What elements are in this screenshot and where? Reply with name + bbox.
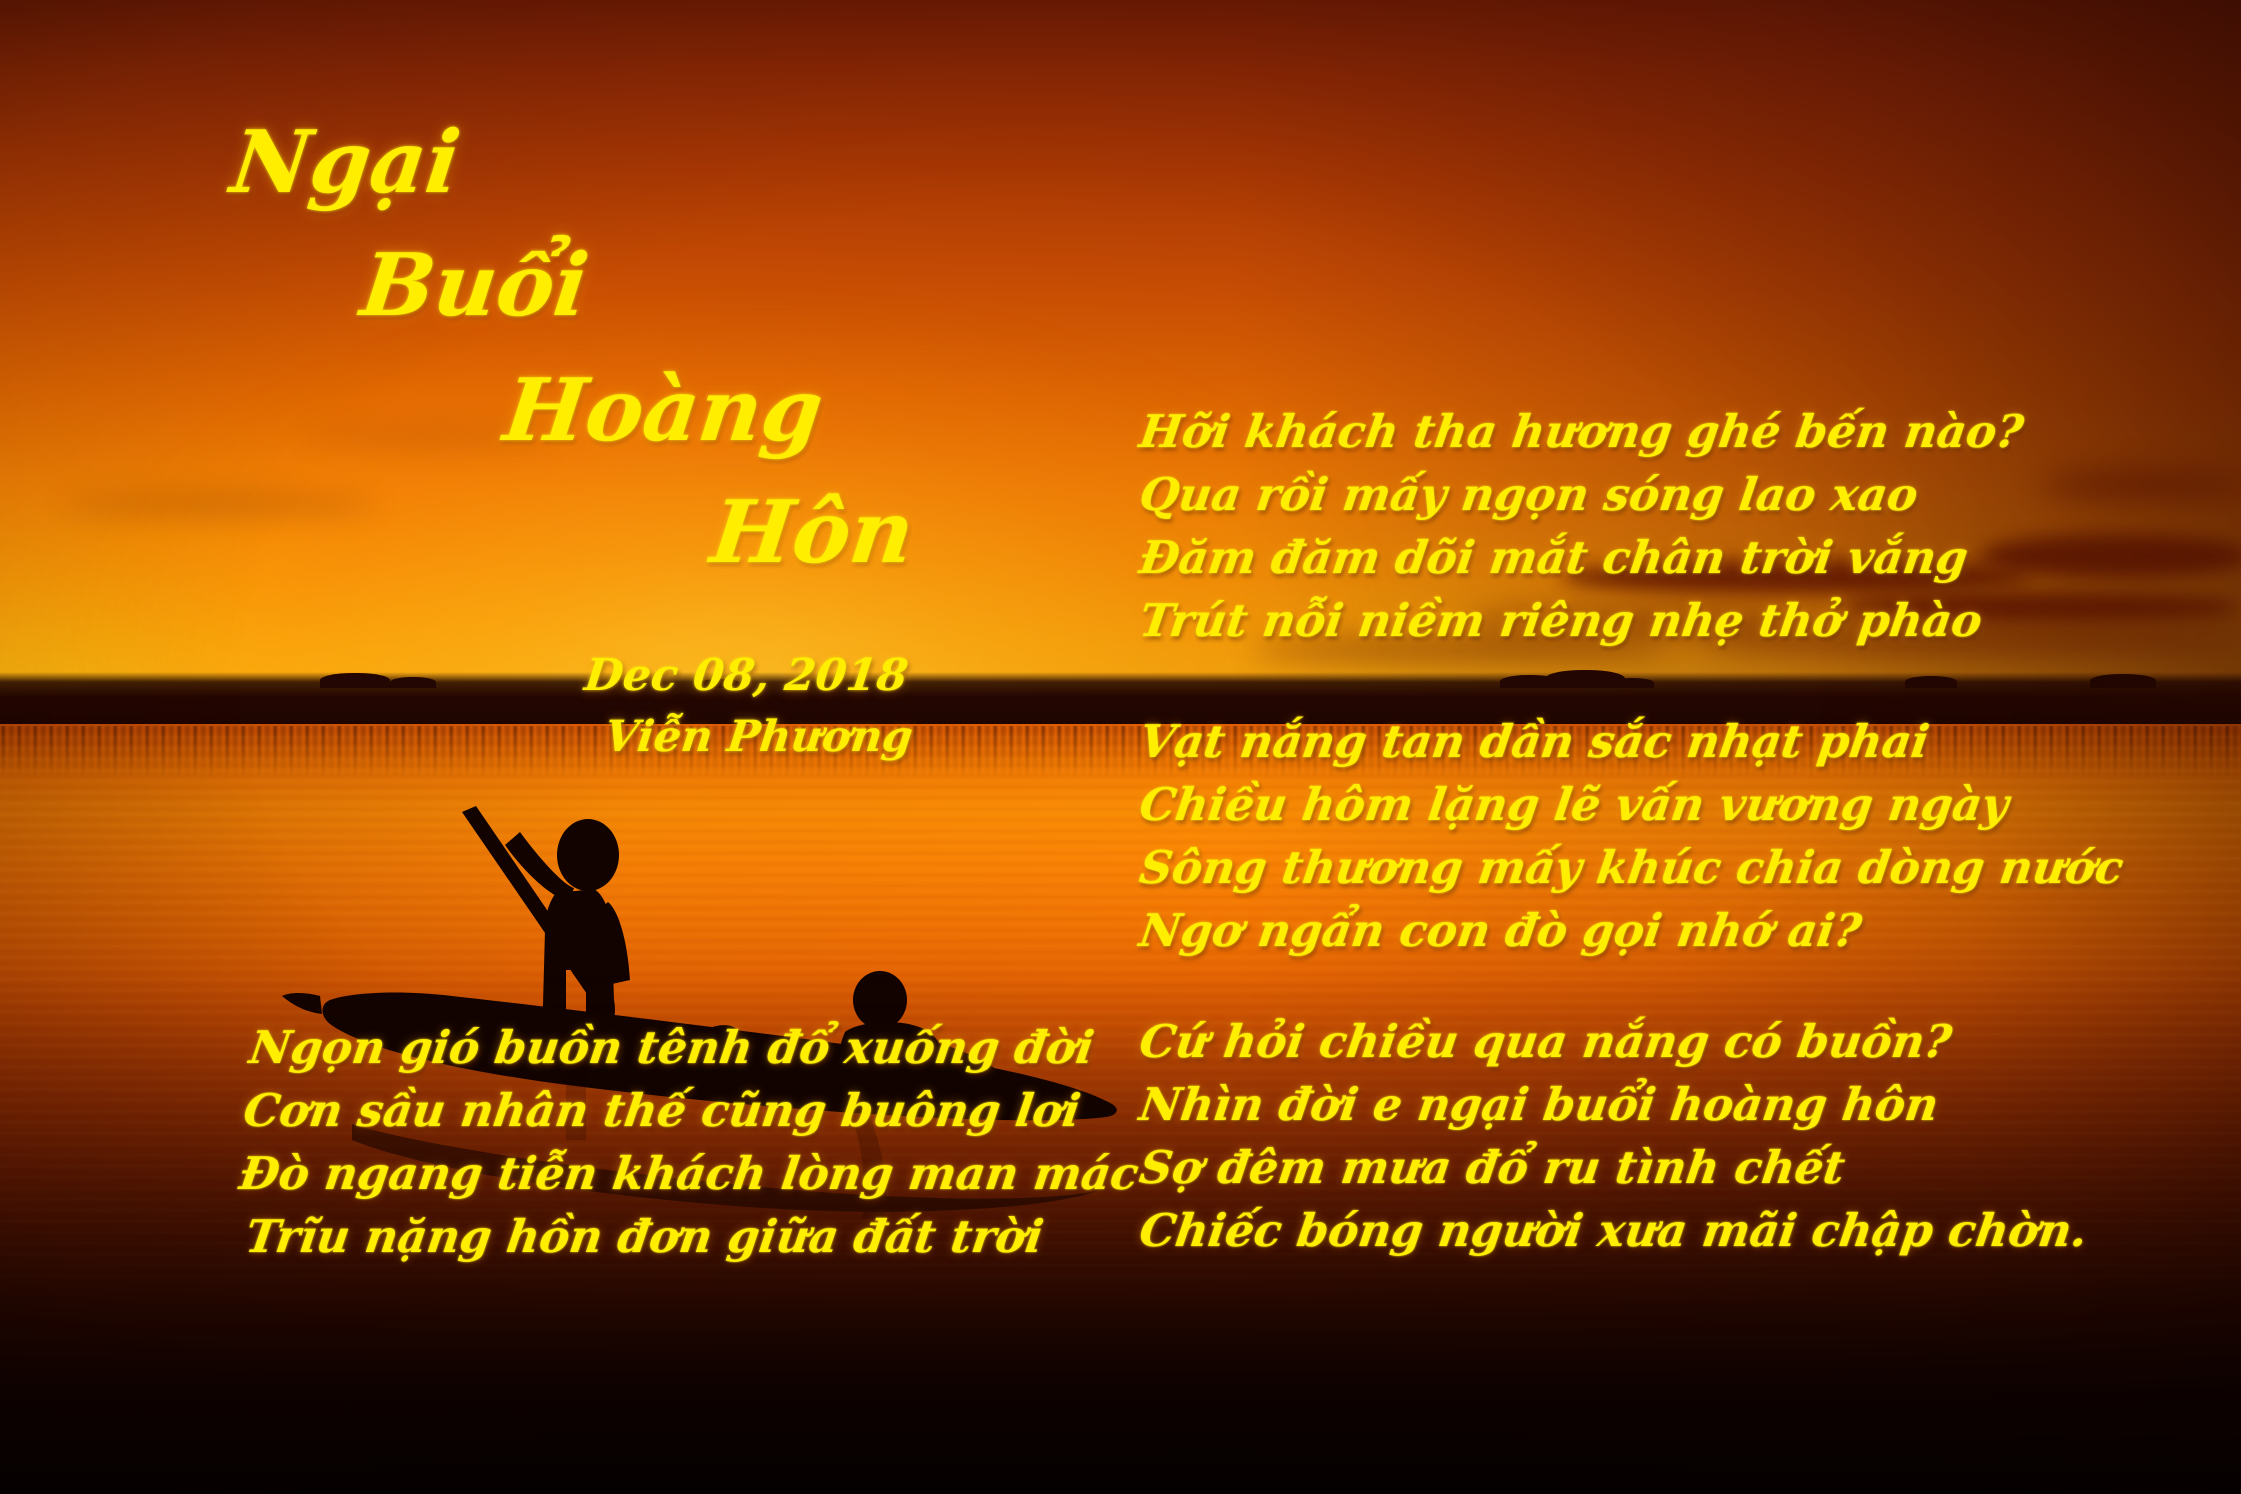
stanza-2: Vạt nắng tan dần sắc nhạt phai Chiều hôm… <box>1140 710 2123 962</box>
title-word-4: Hôn <box>707 490 919 576</box>
poem-line: Sợ đêm mưa đổ ru tình chết <box>1136 1136 2092 1199</box>
poem-line: Cơn sầu nhân thế cũng buông lơi <box>240 1079 1143 1142</box>
poem-line: Ngơ ngẩn con đò gọi nhớ ai? <box>1136 899 2128 962</box>
stanza-3: Ngọn gió buồn tênh đổ xuống đời Cơn sầu … <box>240 1016 1138 1268</box>
title-word-1: Ngại <box>227 120 465 206</box>
poem-line: Sông thương mấy khúc chia dòng nước <box>1136 836 2128 899</box>
poem-poster: Ngại Buổi Hoàng Hôn Dec 08, 2018 Viễn Ph… <box>0 0 2241 1494</box>
poem-line: Nhìn đời e ngại buổi hoàng hôn <box>1136 1073 2092 1136</box>
poem-line: Trút nỗi niềm riêng nhẹ thở phào <box>1136 589 2028 652</box>
poem-line: Trĩu nặng hồn đơn giữa đất trời <box>242 1205 1143 1268</box>
stanza-4: Cứ hỏi chiều qua nắng có buồn? Nhìn đời … <box>1140 1010 2087 1262</box>
title-word-2: Buổi <box>357 243 593 329</box>
poem-line: Chiều hôm lặng lẽ vấn vương ngày <box>1136 773 2128 836</box>
poem-line: Ngọn gió buồn tênh đổ xuống đời <box>246 1016 1143 1079</box>
poem-line: Chiếc bóng người xưa mãi chập chờn. <box>1136 1199 2092 1262</box>
poem-line: Vạt nắng tan dần sắc nhạt phai <box>1136 710 2128 773</box>
stanza-1: Hỡi khách tha hương ghé bến nào? Qua rồi… <box>1140 400 2023 652</box>
poem-line: Hỡi khách tha hương ghé bến nào? <box>1136 400 2028 463</box>
poem-date: Dec 08, 2018 <box>582 650 911 701</box>
poem-line: Qua rồi mấy ngọn sóng lao xao <box>1136 463 2028 526</box>
title-word-3: Hoàng <box>500 368 828 454</box>
poem-line: Đăm đăm dõi mắt chân trời vắng <box>1136 526 2028 589</box>
poem-author: Viễn Phương <box>602 712 916 762</box>
poem-line: Đò ngang tiễn khách lòng man mác <box>236 1142 1143 1205</box>
poem-line: Cứ hỏi chiều qua nắng có buồn? <box>1136 1010 2092 1073</box>
